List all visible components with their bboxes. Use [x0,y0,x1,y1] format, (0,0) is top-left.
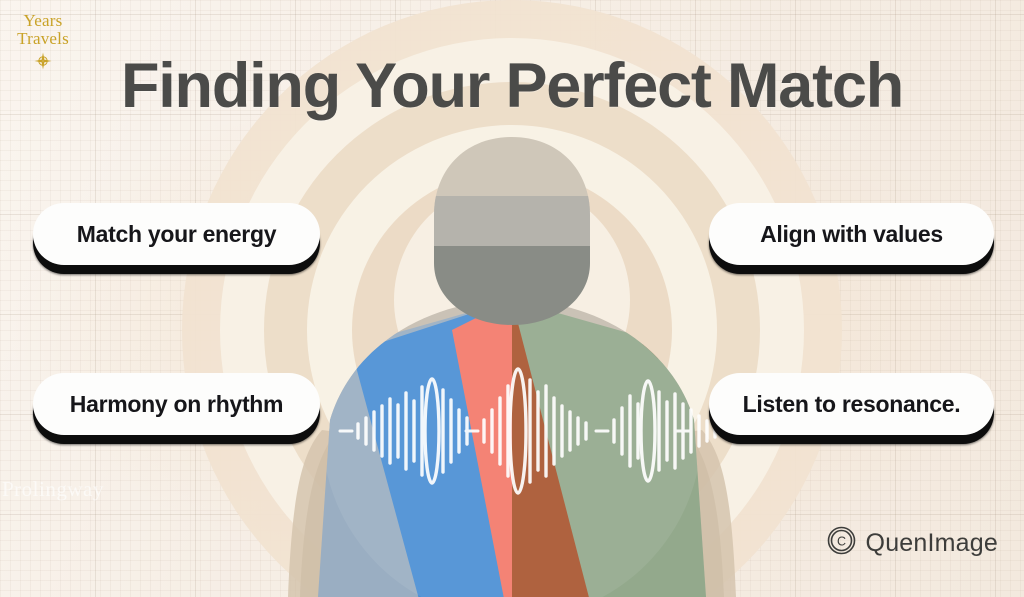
copyright-icon: C [827,526,856,560]
brand-line-1: Years [10,12,76,29]
compass-rose-icon [10,51,76,75]
feature-pill-harmony-on-rhythm[interactable]: Harmony on rhythm [33,373,320,435]
watermark-faint: Prolingway [2,477,104,502]
svg-text:C: C [837,534,846,548]
pill-label: Harmony on rhythm [70,391,283,418]
pill-label: Match your energy [77,221,276,248]
brand-line-2: Travels [10,30,76,47]
page-title: Finding Your Perfect Match [0,50,1024,122]
poster-canvas: Finding Your Perfect Match Match your en… [0,0,1024,597]
credit-label: QuenImage [866,529,998,558]
brand-logo[interactable]: Years Travels [10,12,76,75]
feature-pill-listen-to-resonance[interactable]: Listen to resonance. [709,373,994,435]
credit-watermark: C QuenImage [827,526,998,560]
pill-label: Listen to resonance. [743,391,961,418]
feature-pill-match-your-energy[interactable]: Match your energy [33,203,320,265]
feature-pill-align-with-values[interactable]: Align with values [709,203,994,265]
pill-label: Align with values [760,221,943,248]
